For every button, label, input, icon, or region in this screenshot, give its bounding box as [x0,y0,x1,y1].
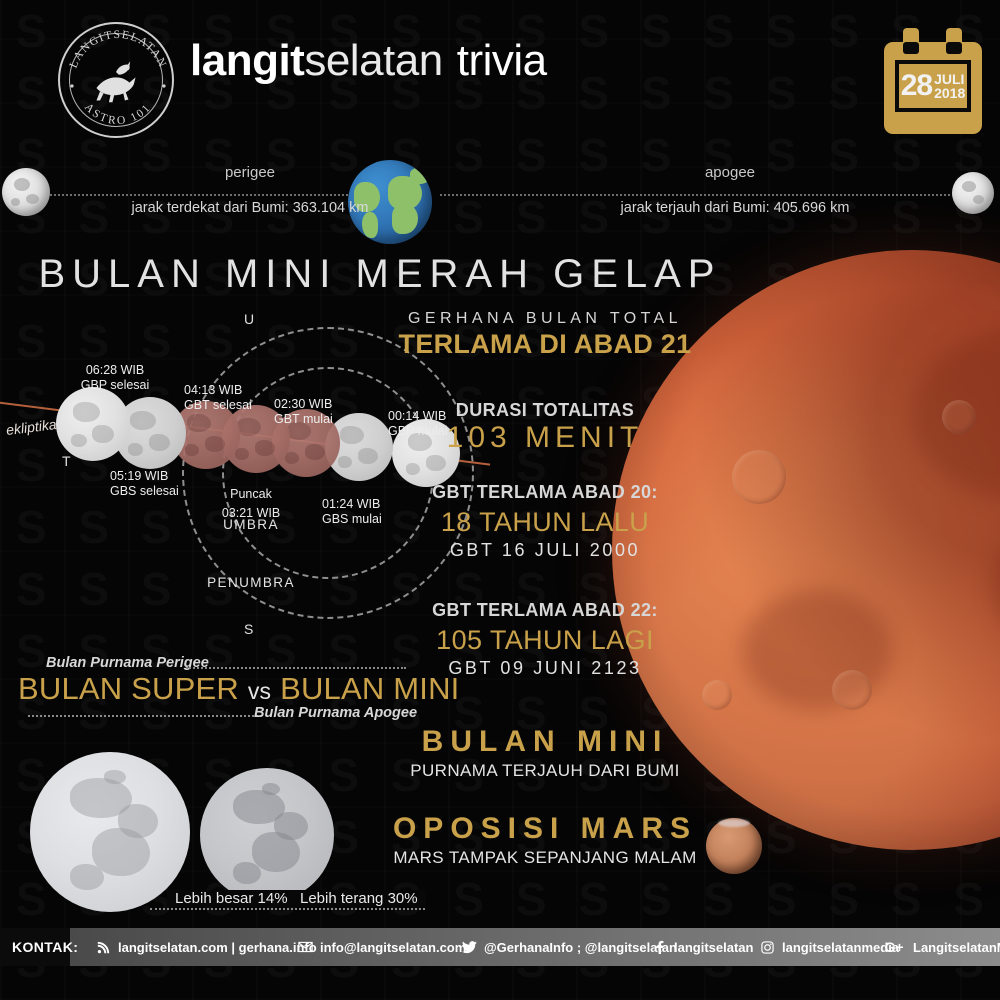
century22-caption: GBT TERLAMA ABAD 22: [390,600,700,621]
duration-block: DURASI TOTALITAS 103 MENIT [390,400,700,455]
apogee-label: apogee [600,164,860,181]
compare-top-dotted-line [186,667,406,669]
apogee-moon [952,172,994,214]
direction-mark-north: U [244,311,255,327]
century20-value: 18 TAHUN LALU [390,507,700,538]
duration-caption: DURASI TOTALITAS [390,400,700,421]
contact-label: KONTAK: [12,928,78,966]
twitter-icon [462,940,477,955]
compare-title-mini: BULAN MINI [280,671,459,706]
brand-trivia: trivia [457,36,547,85]
calendar-notch-left [903,42,919,54]
eclipse-headline: TERLAMA DI ABAD 21 [390,329,700,360]
duration-value: 103 MENIT [390,421,700,455]
calendar-date-panel: 28 JULI 2018 [895,60,971,112]
compare-bottom-dotted-line [28,715,258,717]
event-label-gbt-mulai: 02:30 WIBGBT mulai [274,397,384,427]
century20-caption: GBT TERLAMA ABAD 20: [390,482,700,503]
moon-phase-gbp-selesai [56,387,130,461]
svg-text:ASTRO 101: ASTRO 101 [82,101,154,127]
supermoon-disc [30,752,190,912]
compare-title-vs: vs [248,678,271,704]
calendar-month: JULI [934,72,965,86]
brand-langit: langit [190,36,304,85]
contact-website-text: langitselatan.com | gerhana.info [118,940,317,955]
event-label-gbp-selesai: 06:28 WIBGBP selesai [60,363,170,393]
minimoon-subtitle: PURNAMA TERJAUH DARI BUMI [390,761,700,781]
century20-date: GBT 16 JULI 2000 [390,540,700,561]
mars-subtitle: MARS TAMPAK SEPANJANG MALAM [390,848,700,868]
perigee-moon [2,168,50,216]
minimoon-title: BULAN MINI [390,725,700,759]
contact-email-text: info@langitselatan.com [320,940,466,955]
calendar-day: 28 [901,71,932,101]
ecliptic-label: ekliptika [5,416,57,438]
infographic-root: SSSSSSSSSSSSSSSSSSSSSSSSSSSSSSSSSSSSSSSS… [0,0,1000,1000]
brand-wordmark: langitselatantrivia [190,36,547,86]
eclipse-headline-block: GERHANA BULAN TOTAL TERLAMA DI ABAD 21 [390,310,700,360]
century22-value: 105 TAHUN LAGI [390,625,700,656]
century20-block: GBT TERLAMA ABAD 20: 18 TAHUN LALU GBT 1… [390,482,700,561]
apogee-distance: jarak terjauh dari Bumi: 405.696 km [545,200,925,216]
mars-polar-cap [718,819,750,827]
perigee-label: perigee [120,164,380,181]
contact-instagram[interactable]: langitselatanmedia [760,928,899,966]
minimoon-disc [200,768,334,902]
contact-twitter-text: @GerhanaInfo ; @langitselatan [484,940,677,955]
langitselatan-logo: LANGITSELATAN ASTRO 101 [58,22,174,138]
direction-mark-east: T [62,453,72,469]
googleplus-icon: G+ [882,940,906,955]
contact-facebook[interactable]: langitselatan [652,928,753,966]
perigee-fullmoon-note: Bulan Purnama Perigee [46,655,209,671]
header: LANGITSELATAN ASTRO 101 [0,0,1000,150]
contact-website[interactable]: langitselatan.com | gerhana.info [96,928,317,966]
horse-rider-emblem [89,56,143,104]
contact-email[interactable]: info@langitselatan.com [298,928,466,966]
compare-title-super: BULAN SUPER [18,671,239,706]
mars-title: OPOSISI MARS [390,812,700,846]
contact-googleplus[interactable]: G+ LangitselatanMedia [882,928,1000,966]
page-title: BULAN MINI MERAH GELAP [0,252,760,297]
compare-labels-dotted-line [150,908,425,910]
calendar-month-year: JULI 2018 [934,72,965,100]
minimoon-block: BULAN MINI PURNAMA TERJAUH DARI BUMI [390,725,700,781]
penumbra-label: PENUMBRA [186,575,316,590]
label-bigger-percent: Lebih besar 14% [167,890,296,907]
century22-block: GBT TERLAMA ABAD 22: 105 TAHUN LAGI GBT … [390,600,700,679]
orbit-line-right [440,194,970,196]
label-brighter-percent: Lebih terang 30% [292,890,426,907]
contact-twitter[interactable]: @GerhanaInfo ; @langitselatan [462,928,677,966]
perigee-distance: jarak terdekat dari Bumi: 363.104 km [70,200,430,216]
brand-selatan: selatan [304,36,442,85]
calendar-year: 2018 [934,86,965,100]
contact-footer: KONTAK: langitselatan.com | gerhana.info… [0,928,1000,966]
calendar-icon: 28 JULI 2018 [884,28,982,134]
rss-icon [96,940,111,955]
eclipse-kicker: GERHANA BULAN TOTAL [390,310,700,328]
instagram-icon [760,940,775,955]
contact-googleplus-text: LangitselatanMedia [913,940,1000,955]
calendar-notch-right [946,42,962,54]
mars-opposition-block: OPOSISI MARS MARS TAMPAK SEPANJANG MALAM [390,812,700,868]
compare-title: BULAN SUPER vs BULAN MINI [18,671,418,707]
orbit-line-left [42,194,352,196]
contact-facebook-text: langitselatan [674,940,753,955]
mars-planet-icon [706,818,762,874]
apogee-fullmoon-note: Bulan Purnama Apogee [254,705,417,721]
mail-icon [298,940,313,955]
facebook-icon [652,940,667,955]
direction-mark-south: S [244,621,254,637]
event-label-puncak: Puncak03:21 WIB [196,485,306,523]
